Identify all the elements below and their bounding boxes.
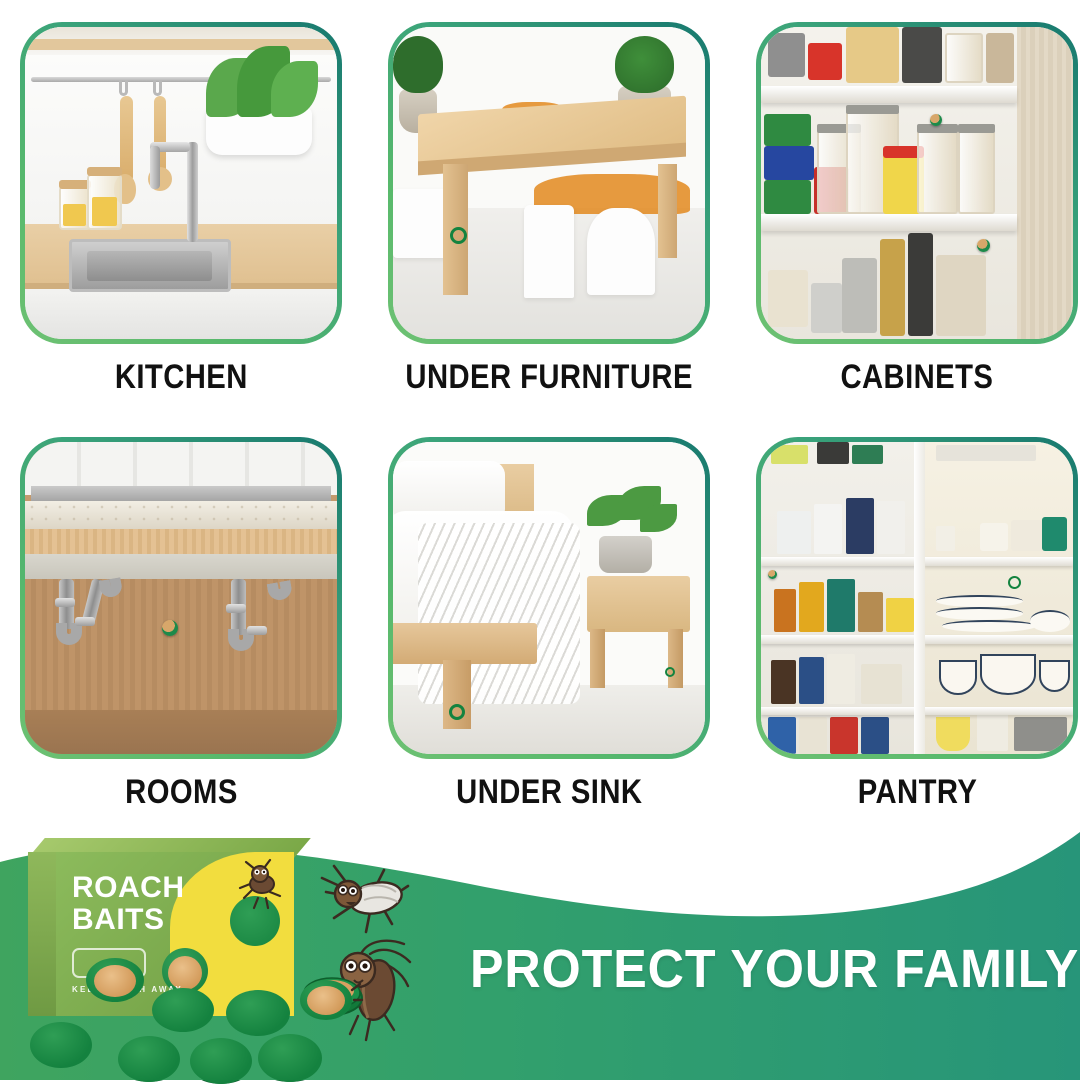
box-side-face [28,852,56,1016]
tile-label-under-furniture: UNDER FURNITURE [405,358,692,397]
photo-cabinets [761,27,1073,339]
tile-cabinets: CABINETS [736,0,1080,415]
bait-disc-open [86,958,144,1002]
dead-roach-icon [318,862,414,940]
tile-label-pantry: PANTRY [858,773,978,812]
photo-kitchen [25,27,337,339]
bait-disc-marker [977,239,990,252]
bait-disc [152,988,214,1032]
bait-disc [258,1034,322,1082]
bait-disc-marker [1008,576,1021,589]
tile-label-cabinets: CABINETS [841,358,994,397]
locations-grid: KITCHEN [0,0,1080,830]
bait-disc-open [300,980,352,1020]
tile-cabinets-frame [756,22,1078,344]
tile-kitchen: KITCHEN [0,0,362,415]
tile-label-kitchen: KITCHEN [115,358,248,397]
photo-pantry [761,442,1073,754]
tile-under-sink: UNDER SINK [362,415,736,830]
bait-disc-marker [450,227,467,244]
photo-under-sink [393,442,705,754]
tile-pantry-frame [756,437,1078,759]
bait-disc [190,1038,252,1084]
tile-rooms-frame [20,437,342,759]
running-roach-icon [236,858,288,914]
bait-disc-marker [162,620,178,636]
tile-rooms: ROOMS [0,415,362,830]
tile-under-furniture-frame [388,22,710,344]
tile-pantry: PANTRY [736,415,1080,830]
photo-under-furniture [393,27,705,339]
tile-under-sink-frame [388,437,710,759]
bait-disc [30,1022,92,1068]
tile-under-furniture: UNDER FURNITURE [362,0,736,415]
bait-disc [118,1036,180,1082]
tile-kitchen-frame [20,22,342,344]
banner-tagline: PROTECT YOUR FAMILY [470,938,1079,1000]
box-title-line-2: BAITS [72,904,185,936]
tile-label-under-sink: UNDER SINK [456,773,642,812]
bait-disc-marker [665,667,675,677]
box-title: ROACH BAITS [72,872,185,935]
box-title-line-1: ROACH [72,872,185,904]
tile-label-rooms: ROOMS [125,773,238,812]
bait-disc-marker [768,570,777,579]
bait-disc [226,990,290,1036]
photo-rooms [25,442,337,754]
